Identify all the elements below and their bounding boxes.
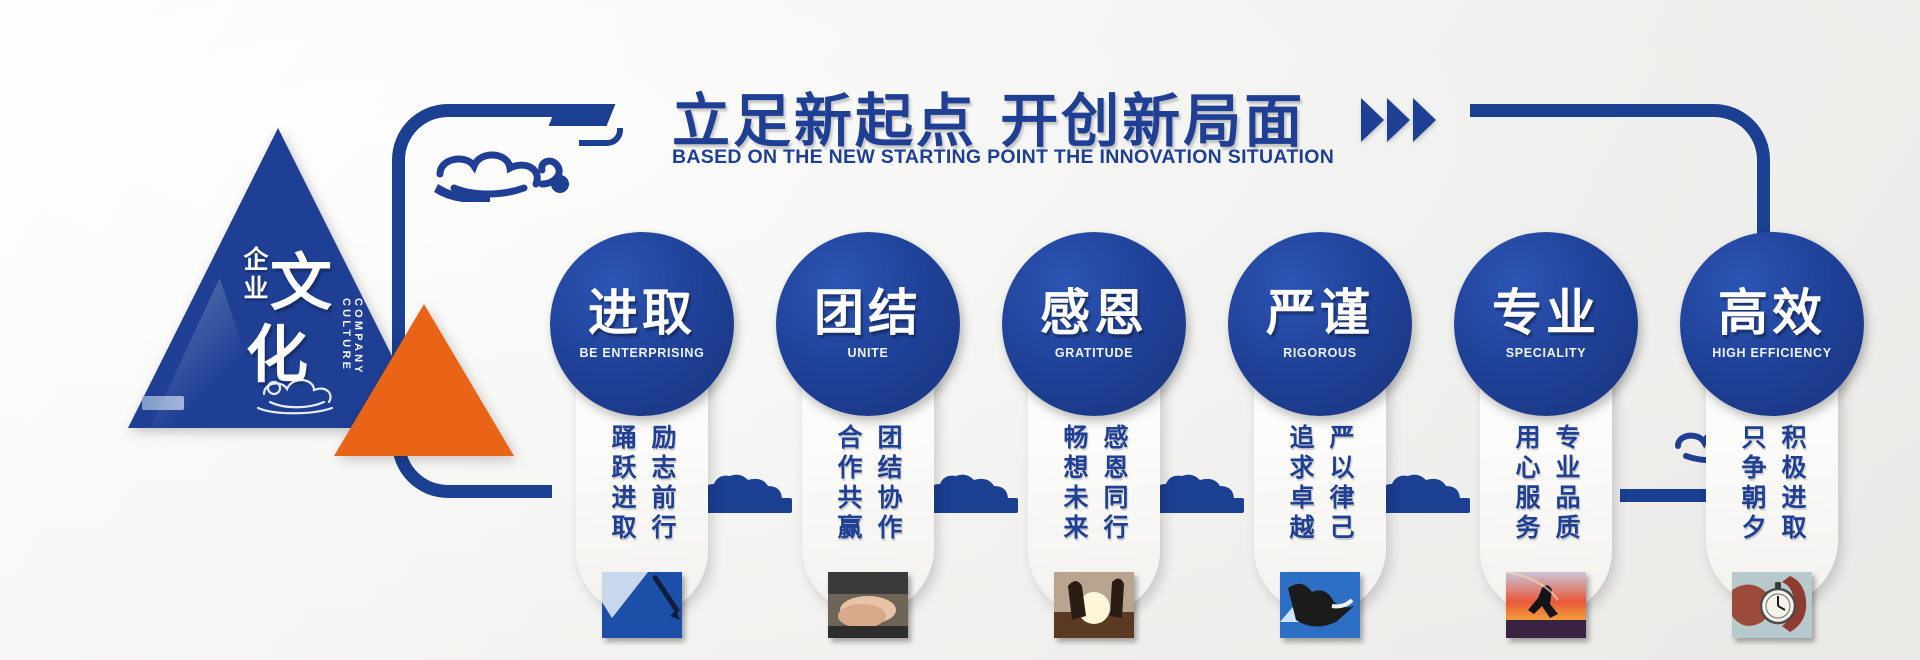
pillar-motto-right: 团结协作 [870, 424, 906, 559]
pillar-badge[interactable]: 严谨 RIGOROUS [1228, 232, 1412, 416]
baseline-cloud [926, 474, 1012, 500]
pillar-motto: 严以律己 追求卓越 [1254, 424, 1386, 559]
pillar-motto-right: 感恩同行 [1096, 424, 1132, 559]
pillar-en-title: GRATITUDE [1055, 346, 1133, 360]
chevron-right-icon [1387, 98, 1410, 142]
chevron-arrows [1361, 98, 1436, 142]
pillar-photo [1506, 572, 1586, 638]
pillar-photo [1054, 572, 1134, 638]
pillar-en-title: BE ENTERPRISING [579, 346, 704, 360]
pillar-badge[interactable]: 高效 HIGH EFFICIENCY [1680, 232, 1864, 416]
pillar-badge[interactable]: 感恩 GRATITUDE [1002, 232, 1186, 416]
chevron-right-icon [1361, 98, 1384, 142]
pillar-card[interactable]: 严谨 RIGOROUS 严以律己 追求卓越 [1254, 236, 1386, 614]
logo-plate-label [142, 396, 184, 410]
pillar-photo [828, 572, 908, 638]
pillar-badge[interactable]: 团结 UNITE [776, 232, 960, 416]
pillar-card[interactable]: 高效 HIGH EFFICIENCY 积极进取 只争朝夕 [1706, 236, 1838, 606]
pillar-motto-right: 严以律己 [1322, 424, 1358, 559]
pillar-cn-title: 严谨 [1266, 288, 1374, 338]
pillar-motto: 团结协作 合作共赢 [802, 424, 934, 559]
baseline-cloud [700, 474, 786, 500]
baseline-strip [1378, 498, 1470, 513]
logo-cn-qiye: 企业 [236, 246, 272, 304]
pillar-en-title: RIGOROUS [1283, 346, 1357, 360]
pillar-motto-right: 专业品质 [1548, 424, 1584, 559]
pillar-motto: 感恩同行 畅想未来 [1028, 424, 1160, 559]
baseline-cloud [1378, 474, 1464, 500]
baseline-strip [1152, 498, 1244, 513]
pillar-card[interactable]: 进取 BE ENTERPRISING 励志前行 踊跃进取 [576, 236, 708, 616]
pillar-motto-left: 畅想未来 [1056, 424, 1092, 559]
company-culture-logo: 企业 文 化 COMPANY CULTURE [128, 128, 428, 458]
pillar-motto-left: 合作共赢 [830, 424, 866, 559]
pillar-photo [602, 572, 682, 638]
pillar-cn-title: 高效 [1718, 288, 1826, 338]
pillar-motto-left: 只争朝夕 [1734, 424, 1770, 559]
pillar-motto: 积极进取 只争朝夕 [1706, 424, 1838, 559]
pillar-cn-title: 团结 [814, 288, 922, 338]
pillar-motto-right: 励志前行 [644, 424, 680, 559]
pillar-motto: 励志前行 踊跃进取 [576, 424, 708, 559]
pillar-motto-left: 追求卓越 [1282, 424, 1318, 559]
pillar-cn-title: 专业 [1492, 288, 1600, 338]
culture-wall: 企业 文 化 COMPANY CULTURE 立足新起点 开创新局面 BASED… [0, 0, 1920, 660]
page-subtitle: BASED ON THE NEW STARTING POINT THE INNO… [672, 146, 1372, 169]
pillar-motto: 专业品质 用心服务 [1480, 424, 1612, 559]
logo-wave-ornament [254, 368, 340, 416]
logo-en-label: COMPANY CULTURE [340, 298, 364, 428]
baseline-strip [700, 498, 792, 513]
pillar-photo [1732, 572, 1812, 638]
cloud-ornament-left [432, 140, 582, 202]
pillar-motto-left: 踊跃进取 [604, 424, 640, 559]
pillar-badge[interactable]: 专业 SPECIALITY [1454, 232, 1638, 416]
frame-pipe-top-right [1470, 104, 1770, 178]
pillar-photo [1280, 572, 1360, 638]
pillar-card[interactable]: 专业 SPECIALITY 专业品质 用心服务 [1480, 236, 1612, 616]
pillar-cn-title: 进取 [588, 288, 696, 338]
pillar-motto-left: 用心服务 [1508, 424, 1544, 559]
baseline-cloud [1152, 474, 1238, 500]
pillar-card[interactable]: 感恩 GRATITUDE 感恩同行 畅想未来 [1028, 236, 1160, 616]
pillar-en-title: UNITE [848, 346, 889, 360]
pillar-card[interactable]: 团结 UNITE 团结协作 合作共赢 [802, 236, 934, 614]
pillar-motto-right: 积极进取 [1774, 424, 1810, 559]
baseline-strip [926, 498, 1018, 513]
pillar-badge[interactable]: 进取 BE ENTERPRISING [550, 232, 734, 416]
pillar-en-title: SPECIALITY [1506, 346, 1587, 360]
chevron-right-icon [1413, 98, 1436, 142]
pillar-en-title: HIGH EFFICIENCY [1712, 346, 1832, 360]
pillar-cn-title: 感恩 [1040, 288, 1148, 338]
